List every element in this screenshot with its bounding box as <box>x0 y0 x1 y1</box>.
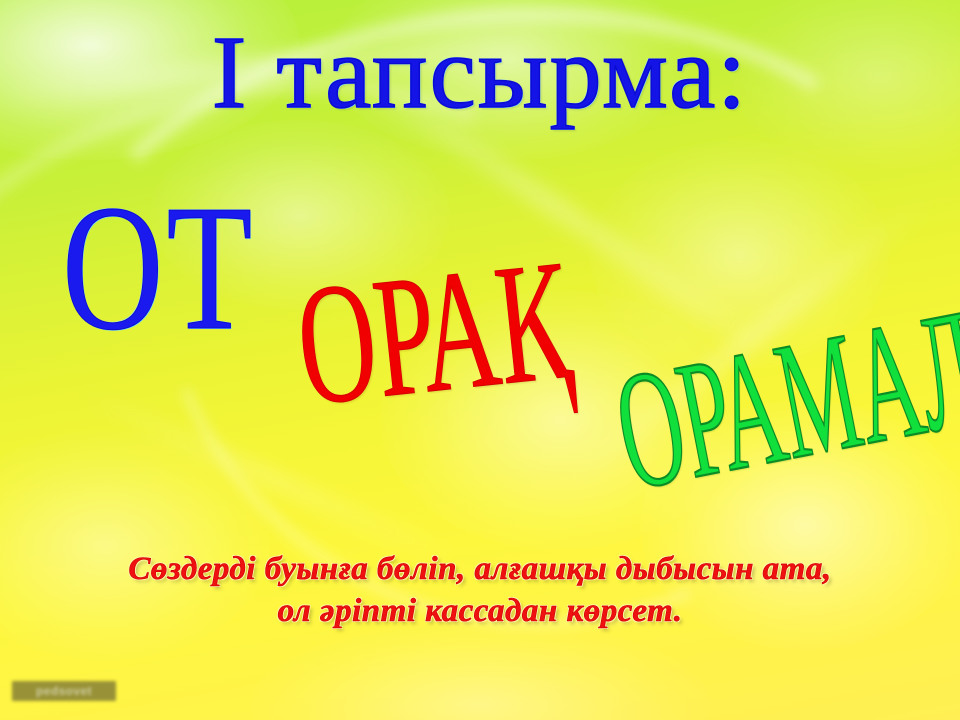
background-glow <box>250 620 710 720</box>
vocabulary-word-oramal: ОРАМАЛ <box>604 283 960 517</box>
vocabulary-word-ot: ОТ <box>62 178 255 358</box>
instruction-text: Сөздерді буынға бөліп, алғашқы дыбысын а… <box>0 548 960 632</box>
watermark-label: pedsovet <box>12 681 116 701</box>
slide-title: I тапсырма: <box>0 18 960 127</box>
instruction-line-1: Сөздерді буынға бөліп, алғашқы дыбысын а… <box>0 548 960 590</box>
slide-canvas: I тапсырма: ОТ ОРАҚ ОРАМАЛ Сөздерді буын… <box>0 0 960 720</box>
instruction-line-2: ол әріпті кассадан көрсет. <box>0 590 960 632</box>
watermark-badge: pedsovet <box>12 681 116 701</box>
vocabulary-word-orak: ОРАҚ <box>290 234 577 433</box>
